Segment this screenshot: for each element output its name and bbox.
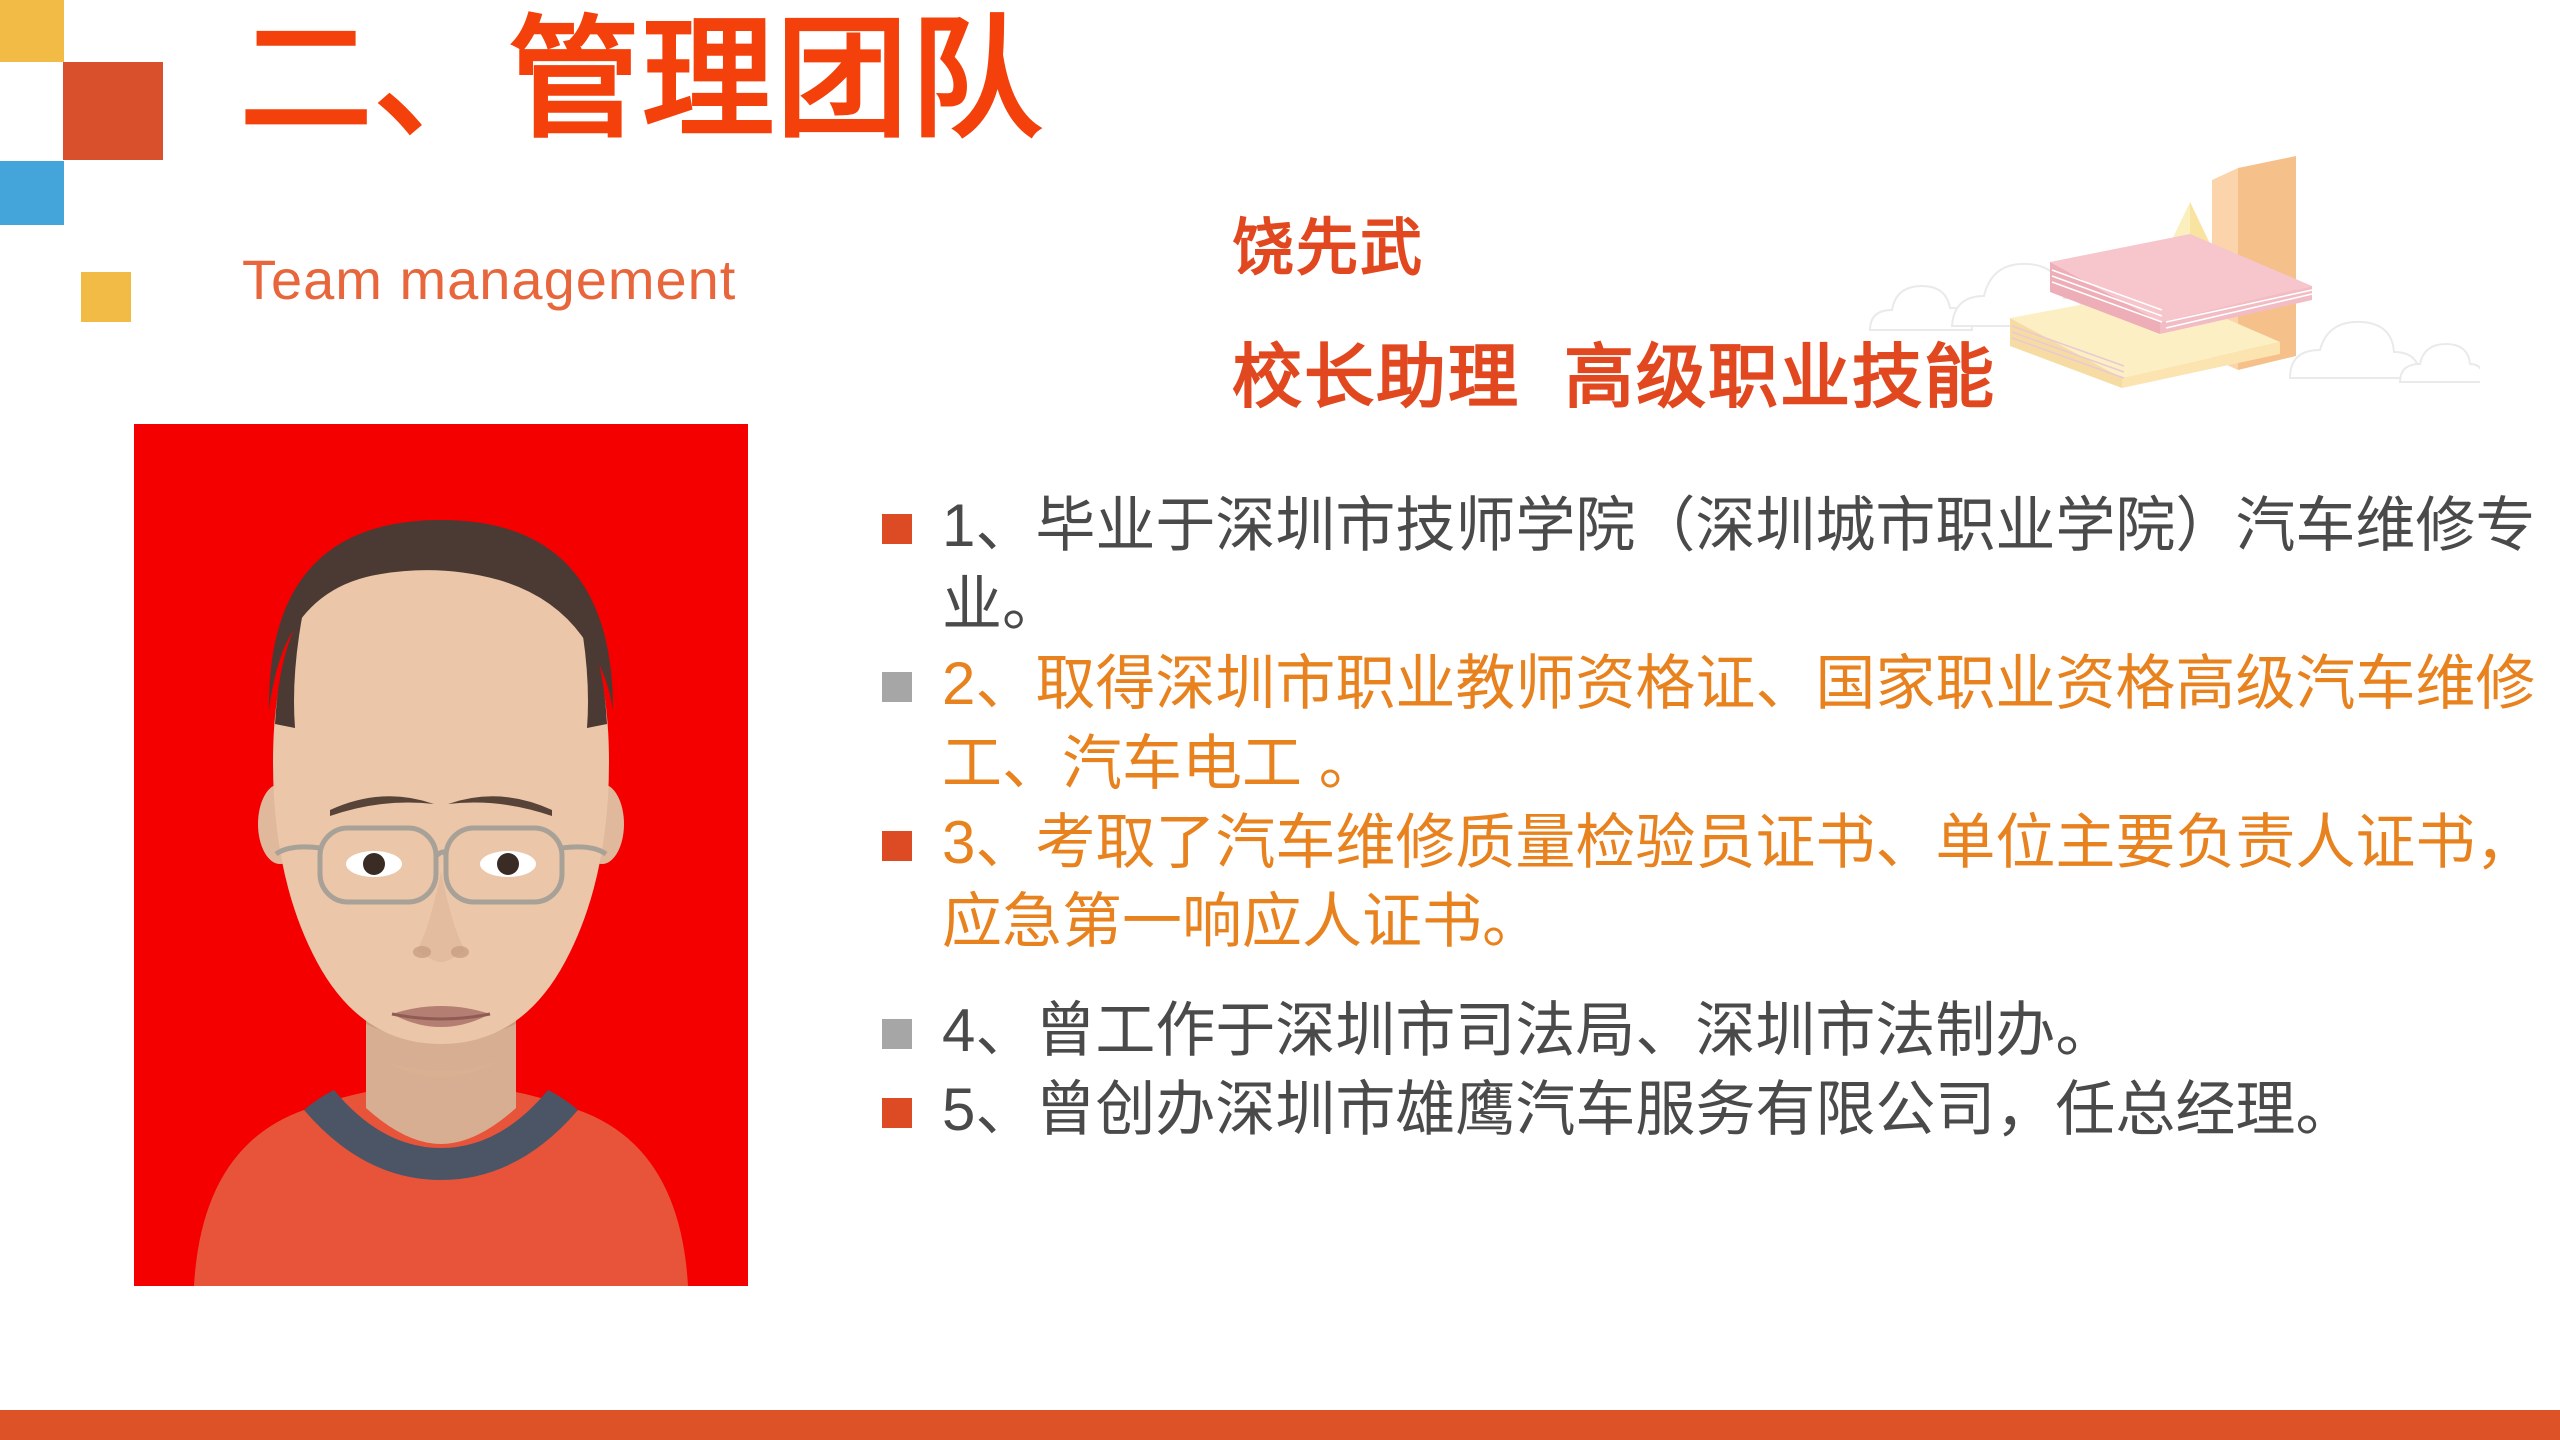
page-subtitle: Team management xyxy=(242,252,736,308)
list-item-text: 5、曾创办深圳市雄鹰汽车服务有限公司，任总经理。 xyxy=(942,1076,2355,1143)
decor-block-yellow-small xyxy=(81,272,131,322)
bullet-marker-icon xyxy=(882,672,912,702)
decor-block-red-large xyxy=(63,62,163,160)
list-item: 1、毕业于深圳市技师学院（深圳城市职业学院）汽车维修专业。 xyxy=(876,486,2536,644)
list-item: 5、曾创办深圳市雄鹰汽车服务有限公司，任总经理。 xyxy=(876,1070,2536,1149)
person-role-qualification: 高级职业技能 xyxy=(1564,338,1996,416)
person-name: 饶先武 xyxy=(1232,218,1424,280)
credentials-list: 1、毕业于深圳市技师学院（深圳城市职业学院）汽车维修专业。 2、取得深圳市职业教… xyxy=(876,486,2536,1150)
list-item-text: 1、毕业于深圳市技师学院（深圳城市职业学院）汽车维修专业。 xyxy=(942,492,2535,638)
person-role: 校长助理高级职业技能 xyxy=(1232,342,1996,412)
portrait-illustration xyxy=(134,424,748,1286)
bullet-marker-icon xyxy=(882,514,912,544)
list-item: 4、曾工作于深圳市司法局、深圳市法制办。 xyxy=(876,991,2536,1070)
bullet-marker-icon xyxy=(882,831,912,861)
decor-block-blue xyxy=(0,161,64,225)
portrait-photo xyxy=(134,424,748,1286)
bullet-marker-icon xyxy=(882,1019,912,1049)
list-item-text: 4、曾工作于深圳市司法局、深圳市法制办。 xyxy=(942,997,2115,1064)
bottom-accent-bar xyxy=(0,1410,2560,1440)
cloud-icon-right xyxy=(2290,322,2480,382)
page-title: 二、管理团队 xyxy=(240,14,1044,146)
list-item: 2、取得深圳市职业教师资格证、国家职业资格高级汽车维修工、汽车电工 。 xyxy=(876,644,2536,802)
list-item: 3、考取了汽车维修质量检验员证书、单位主要负责人证书，应急第一响应人证书。 xyxy=(876,803,2536,961)
list-item-text: 2、取得深圳市职业教师资格证、国家职业资格高级汽车维修工、汽车电工 。 xyxy=(942,650,2535,796)
person-role-position: 校长助理 xyxy=(1232,338,1520,416)
decor-block-yellow-top xyxy=(0,0,64,62)
list-item-text: 3、考取了汽车维修质量检验员证书、单位主要负责人证书，应急第一响应人证书。 xyxy=(942,809,2535,955)
bullet-marker-icon xyxy=(882,1098,912,1128)
